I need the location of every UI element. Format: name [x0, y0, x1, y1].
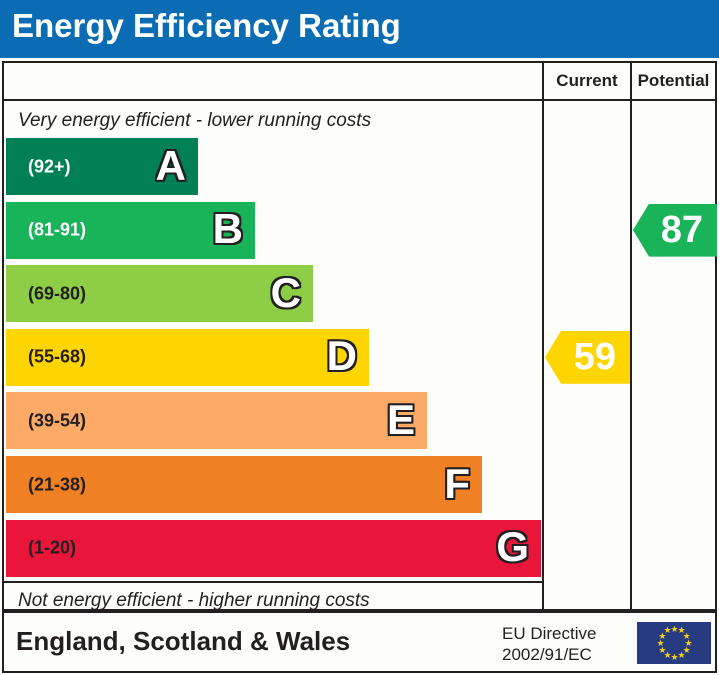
column-header-current: Current: [544, 71, 630, 91]
band-letter-c: C: [271, 272, 301, 314]
energy-efficiency-certificate: Energy Efficiency Rating Current Potenti…: [0, 0, 719, 675]
caption-inefficient: Not energy efficient - higher running co…: [18, 590, 370, 612]
header-divider: [4, 99, 715, 101]
band-range-d: (55-68): [28, 347, 86, 368]
eu-flag-star: ★: [658, 647, 665, 654]
page-title: Energy Efficiency Rating: [12, 7, 401, 45]
footer-region-label: England, Scotland & Wales: [16, 626, 350, 657]
band-range-b: (81-91): [28, 220, 86, 241]
potential-column-divider: [630, 63, 632, 609]
band-f: (21-38)F: [6, 456, 482, 513]
band-letter-g: G: [496, 526, 529, 568]
rating-value-potential: 87: [661, 211, 717, 249]
rating-arrow-potential: 87: [633, 204, 717, 257]
band-letter-f: F: [444, 463, 470, 505]
footer-directive-label: EU Directive 2002/91/EC: [502, 623, 622, 666]
bottom-divider: [4, 581, 542, 583]
band-letter-d: D: [327, 335, 357, 377]
band-d: (55-68)D: [6, 329, 369, 386]
band-letter-e: E: [387, 399, 415, 441]
title-bar: Energy Efficiency Rating: [0, 0, 719, 58]
band-g: (1-20)G: [6, 520, 541, 577]
rating-arrow-current: 59: [545, 331, 630, 384]
band-c: (69-80)C: [6, 265, 313, 322]
column-header-potential: Potential: [632, 71, 715, 91]
directive-line-1: EU Directive: [502, 623, 622, 644]
current-column-divider: [542, 63, 544, 609]
band-range-f: (21-38): [28, 474, 86, 495]
band-e: (39-54)E: [6, 392, 427, 449]
eu-flag-icon: ★★★★★★★★★★★★: [637, 622, 711, 664]
band-range-c: (69-80): [28, 283, 86, 304]
eu-flag-star: ★: [657, 640, 664, 647]
rating-chart-frame: Current Potential Very energy efficient …: [2, 61, 717, 611]
band-list: (92+)A(81-91)B(69-80)C(55-68)D(39-54)E(2…: [4, 138, 542, 581]
band-a: (92+)A: [6, 138, 198, 195]
eu-flag-star: ★: [664, 627, 671, 634]
caption-efficient: Very energy efficient - lower running co…: [18, 110, 371, 132]
band-range-e: (39-54): [28, 410, 86, 431]
footer-bar: England, Scotland & Wales EU Directive 2…: [2, 611, 717, 673]
band-letter-b: B: [213, 208, 243, 250]
directive-line-2: 2002/91/EC: [502, 644, 622, 665]
band-b: (81-91)B: [6, 202, 255, 259]
band-range-a: (92+): [28, 156, 71, 177]
rating-value-current: 59: [574, 338, 630, 376]
band-letter-a: A: [156, 145, 186, 187]
band-range-g: (1-20): [28, 538, 76, 559]
